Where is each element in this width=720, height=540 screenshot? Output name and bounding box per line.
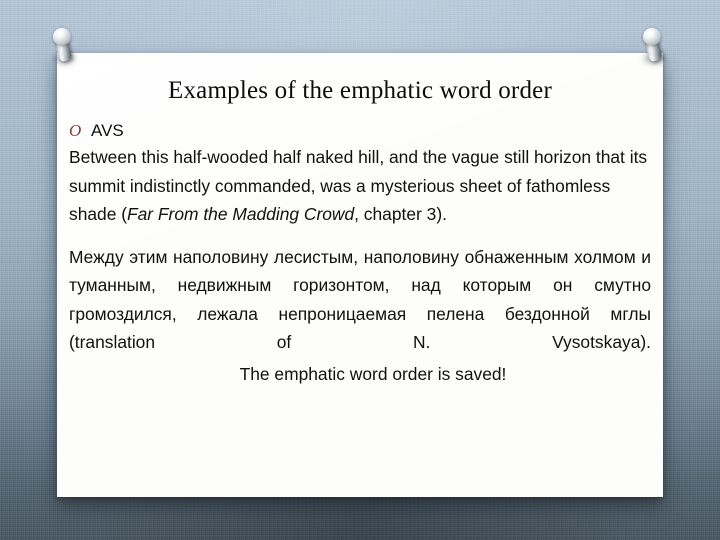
book-title-citation: Far From the Madding Crowd: [127, 204, 354, 224]
pin-head: [53, 28, 71, 45]
paragraph-russian-body: Между этим наполовину лесистым, наполови…: [69, 247, 651, 324]
bullet-list-item: O AVS: [57, 122, 663, 139]
pin-head: [643, 28, 661, 45]
slide-canvas: Examples of the emphatic word order O AV…: [0, 0, 720, 540]
paragraph-russian-attribution: (translation of N. Vysotskaya).: [69, 332, 651, 352]
closing-statement: The emphatic word order is saved!: [57, 360, 663, 388]
presentation-card: Examples of the emphatic word order O AV…: [57, 53, 663, 497]
page-title: Examples of the emphatic word order: [57, 53, 663, 105]
bullet-o-icon: O: [69, 122, 91, 139]
paragraph-english: Between this half-wooded half naked hill…: [57, 143, 663, 229]
card-content: Examples of the emphatic word order O AV…: [57, 53, 663, 497]
pin-glint: [57, 31, 63, 36]
paragraph-russian: Между этим наполовину лесистым, наполови…: [57, 243, 663, 357]
paragraph-english-part2: , chapter 3).: [354, 204, 447, 224]
bullet-item-label: AVS: [91, 122, 124, 139]
pin-glint: [647, 31, 653, 36]
